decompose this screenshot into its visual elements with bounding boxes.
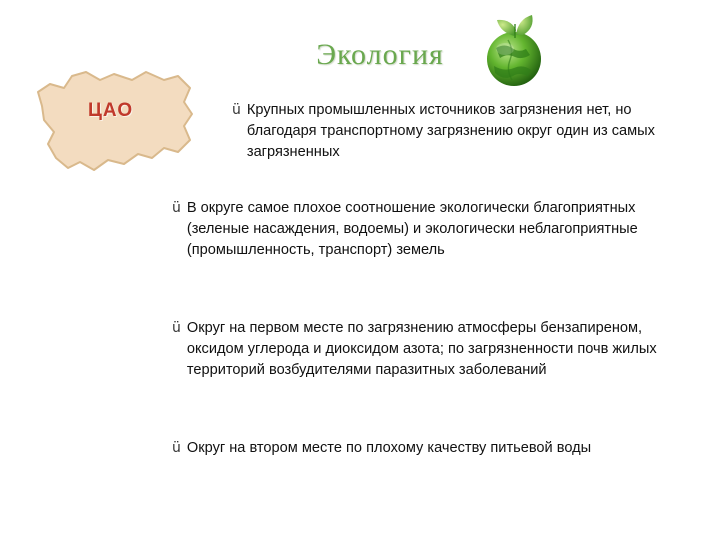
list-item-text: В округе самое плохое соотношение эколог… <box>187 198 692 261</box>
list-item: ü Округ на втором месте по плохому качес… <box>172 438 702 459</box>
slide-canvas: Экология <box>0 0 720 540</box>
list-item: ü Крупных промышленных источников загряз… <box>232 100 702 163</box>
check-bullet-icon: ü <box>172 438 187 458</box>
map-label: ЦАО <box>88 100 133 122</box>
list-item: ü В округе самое плохое соотношение экол… <box>172 198 692 261</box>
central-administrative-okrug-map <box>28 62 203 182</box>
list-item-text: Округ на первом месте по загрязнению атм… <box>187 318 702 381</box>
list-item-text: Крупных промышленных источников загрязне… <box>247 100 702 163</box>
list-item-text: Округ на втором месте по плохому качеств… <box>187 438 591 459</box>
list-item: ü Округ на первом месте по загрязнению а… <box>172 318 702 381</box>
check-bullet-icon: ü <box>232 100 247 120</box>
eco-globe-leaf-logo <box>474 12 552 90</box>
check-bullet-icon: ü <box>172 318 187 338</box>
check-bullet-icon: ü <box>172 198 187 218</box>
